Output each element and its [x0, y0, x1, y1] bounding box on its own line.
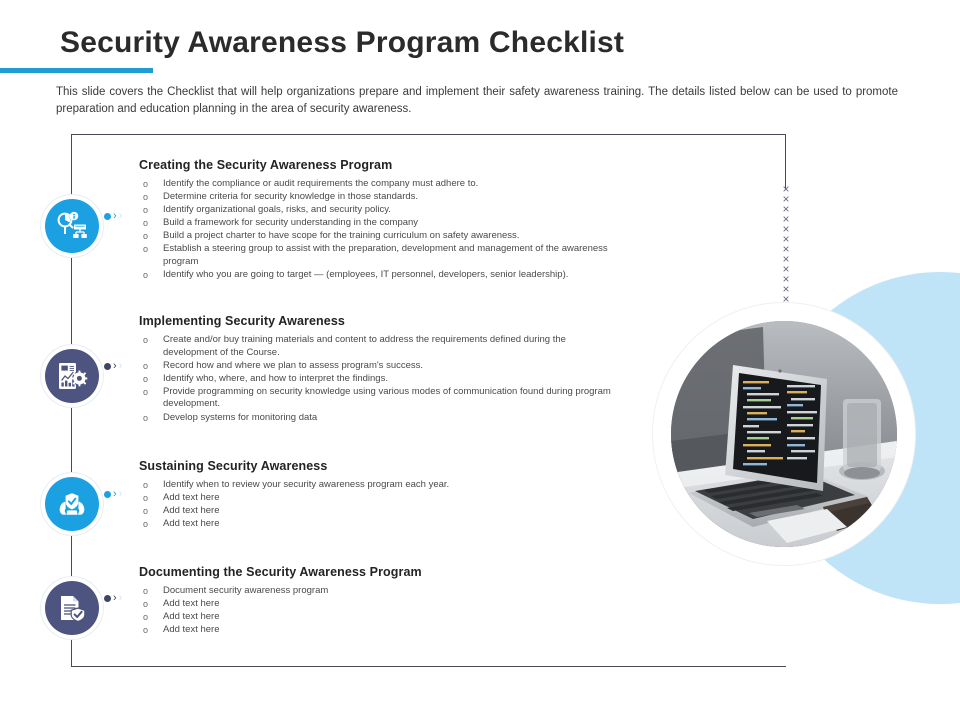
chevron-right-faint-icon: › [119, 363, 123, 370]
list-item: Determine criteria for security knowledg… [139, 191, 629, 204]
connector-dots-documenting: › › [104, 595, 122, 602]
section-heading: Sustaining Security Awareness [139, 459, 609, 473]
document-check-shield-icon [56, 592, 88, 624]
decorative-x-pattern: × × × × × × × × × × × × [776, 184, 796, 304]
list-item: Identify who, where, and how to interpre… [139, 373, 619, 386]
section-heading: Documenting the Security Awareness Progr… [139, 565, 609, 579]
chevron-right-faint-icon: › [119, 491, 123, 498]
section-documenting: Documenting the Security Awareness Progr… [139, 565, 609, 637]
chevron-right-icon: › [113, 491, 117, 498]
section-icon-sustaining[interactable] [45, 477, 99, 531]
connector-dots-implementing: › › [104, 363, 122, 370]
section-heading: Creating the Security Awareness Program [139, 158, 629, 172]
list-item: Add text here [139, 598, 609, 611]
connector-dot-icon [104, 491, 111, 498]
section-bullet-list: Document security awareness program Add … [139, 585, 609, 637]
list-item: Identify who you are going to target — (… [139, 269, 629, 282]
list-item: Build a project charter to have scope fo… [139, 230, 629, 243]
chevron-right-icon: › [113, 363, 117, 370]
chevron-right-icon: › [113, 213, 117, 220]
list-item: Record how and where we plan to assess p… [139, 360, 619, 373]
photo-ring [653, 303, 915, 565]
list-item: Add text here [139, 505, 609, 518]
section-implementing: Implementing Security Awareness Create a… [139, 314, 619, 425]
connector-dots-creating: › › [104, 213, 122, 220]
chart-report-gear-icon [56, 360, 88, 392]
list-item: Create and/or buy training materials and… [139, 334, 619, 359]
list-item: Add text here [139, 518, 609, 531]
slide-subtitle: This slide covers the Checklist that wil… [56, 84, 898, 118]
page-title: Security Awareness Program Checklist [60, 26, 624, 60]
hands-holding-shield-icon [56, 488, 88, 520]
list-item: Identify organizational goals, risks, an… [139, 204, 629, 217]
connector-dot-icon [104, 595, 111, 602]
section-icon-implementing[interactable] [45, 349, 99, 403]
slide-canvas: Security Awareness Program Checklist Thi… [0, 0, 960, 720]
list-item: Add text here [139, 492, 609, 505]
title-accent-bar [0, 68, 153, 73]
connector-dot-icon [104, 213, 111, 220]
list-item: Develop systems for monitoring data [139, 412, 619, 425]
list-item: Document security awareness program [139, 585, 609, 598]
chevron-right-faint-icon: › [119, 595, 123, 602]
section-sustaining: Sustaining Security Awareness Identify w… [139, 459, 609, 531]
list-item: Establish a steering group to assist wit… [139, 243, 629, 268]
section-creating: Creating the Security Awareness Program … [139, 158, 629, 282]
laptop-with-code-photo [671, 321, 897, 547]
section-bullet-list: Identify when to review your security aw… [139, 479, 609, 531]
list-item: Build a framework for security understan… [139, 217, 629, 230]
list-item: Identify when to review your security aw… [139, 479, 609, 492]
section-icon-creating[interactable] [45, 199, 99, 253]
connector-dot-icon [104, 363, 111, 370]
connector-dots-sustaining: › › [104, 491, 122, 498]
chevron-right-faint-icon: › [119, 213, 123, 220]
list-item: Add text here [139, 624, 609, 637]
list-item: Add text here [139, 611, 609, 624]
section-bullet-list: Identify the compliance or audit require… [139, 178, 629, 282]
list-item: Provide programming on security knowledg… [139, 386, 619, 411]
section-heading: Implementing Security Awareness [139, 314, 619, 328]
section-icon-documenting[interactable] [45, 581, 99, 635]
list-item: Identify the compliance or audit require… [139, 178, 629, 191]
section-bullet-list: Create and/or buy training materials and… [139, 334, 619, 424]
chevron-right-icon: › [113, 595, 117, 602]
audit-analysis-org-chart-icon [55, 209, 89, 243]
